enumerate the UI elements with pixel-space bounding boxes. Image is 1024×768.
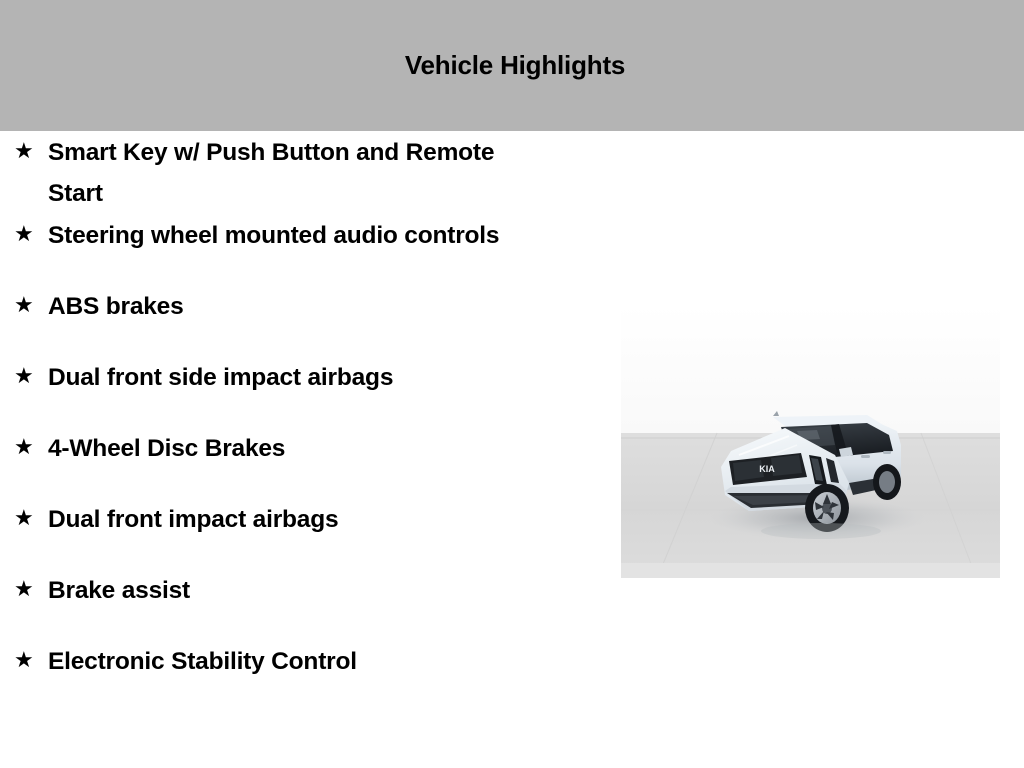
- list-item: ★ Dual front impact airbags: [0, 498, 600, 569]
- list-item-label: ABS brakes: [48, 285, 548, 327]
- list-item-label: Brake assist: [48, 569, 548, 611]
- kia-badge-text: KIA: [759, 464, 775, 474]
- star-bullet-icon: ★: [14, 498, 48, 540]
- star-bullet-icon: ★: [14, 427, 48, 469]
- list-item-label: 4-Wheel Disc Brakes: [48, 427, 548, 469]
- list-item-label: Smart Key w/ Push Button and Remote Star…: [48, 131, 548, 214]
- list-item: ★ Brake assist: [0, 569, 600, 640]
- star-bullet-icon: ★: [14, 214, 48, 256]
- list-item: ★ Electronic Stability Control: [0, 640, 600, 711]
- list-item-label: Dual front side impact airbags: [48, 356, 548, 398]
- vehicle-photo-graphic: KIA: [621, 305, 1000, 578]
- list-item: ★ Dual front side impact airbags: [0, 356, 600, 427]
- star-bullet-icon: ★: [14, 569, 48, 611]
- list-item: ★ Steering wheel mounted audio controls: [0, 214, 600, 285]
- list-item-label: Steering wheel mounted audio controls: [48, 214, 548, 256]
- vehicle-photo: KIA: [621, 305, 1000, 578]
- star-bullet-icon: ★: [14, 285, 48, 327]
- list-item-label: Dual front impact airbags: [48, 498, 548, 540]
- star-bullet-icon: ★: [14, 356, 48, 398]
- list-item: ★ Smart Key w/ Push Button and Remote St…: [0, 131, 600, 214]
- page-title: Vehicle Highlights: [0, 50, 1024, 80]
- list-item: ★ ABS brakes: [0, 285, 600, 356]
- vehicle-highlights-list: ★ Smart Key w/ Push Button and Remote St…: [0, 131, 600, 711]
- star-bullet-icon: ★: [14, 640, 48, 682]
- header-band: Vehicle Highlights: [0, 0, 1024, 131]
- list-item: ★ 4-Wheel Disc Brakes: [0, 427, 600, 498]
- list-item-label: Electronic Stability Control: [48, 640, 548, 682]
- star-bullet-icon: ★: [14, 131, 48, 173]
